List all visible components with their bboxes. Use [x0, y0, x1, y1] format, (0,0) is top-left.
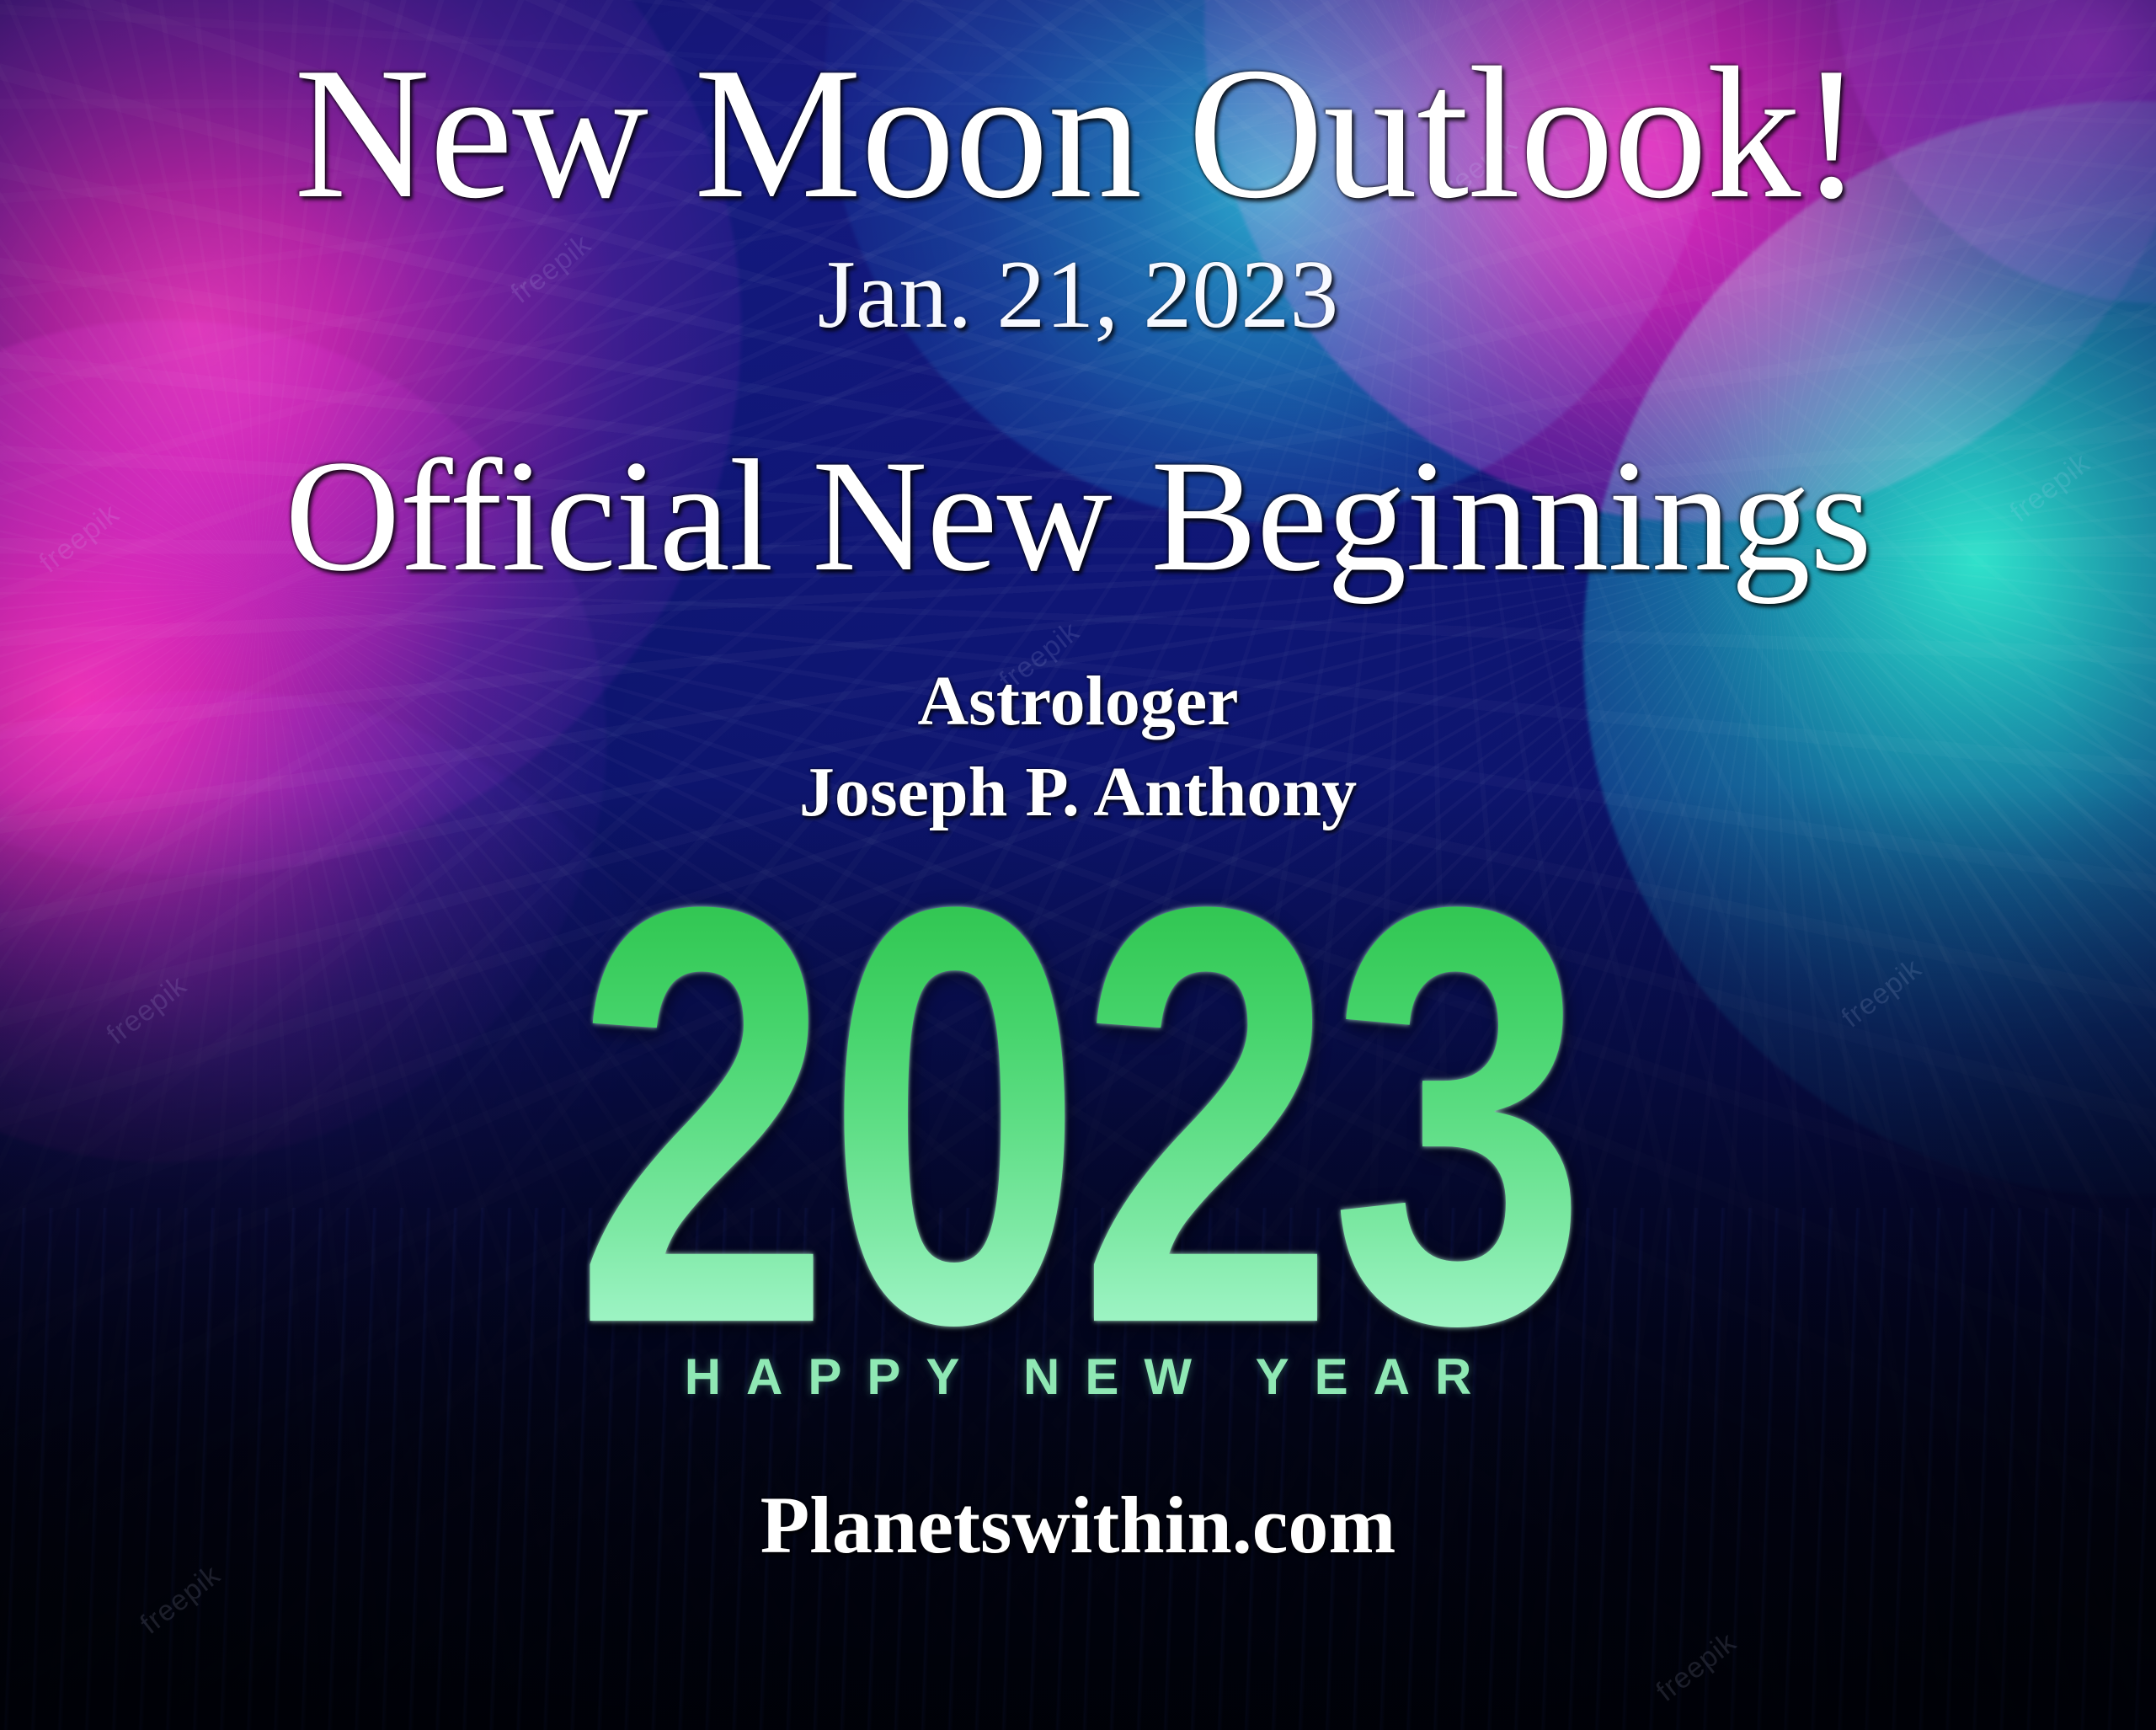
website-url: Planetswithin.com: [760, 1478, 1396, 1572]
headline: Official New Beginnings: [285, 436, 1871, 596]
page-title: New Moon Outlook!: [294, 39, 1862, 227]
credit-role: Astrologer: [918, 662, 1239, 741]
poster-canvas: freepik freepik freepik freepik freepik …: [0, 0, 2156, 1730]
year-graphic: 2023: [492, 889, 1664, 1343]
event-date: Jan. 21, 2023: [818, 246, 1339, 344]
poster-content: New Moon Outlook! Jan. 21, 2023 Official…: [0, 0, 2156, 1730]
year-number: 2023: [574, 867, 1582, 1364]
